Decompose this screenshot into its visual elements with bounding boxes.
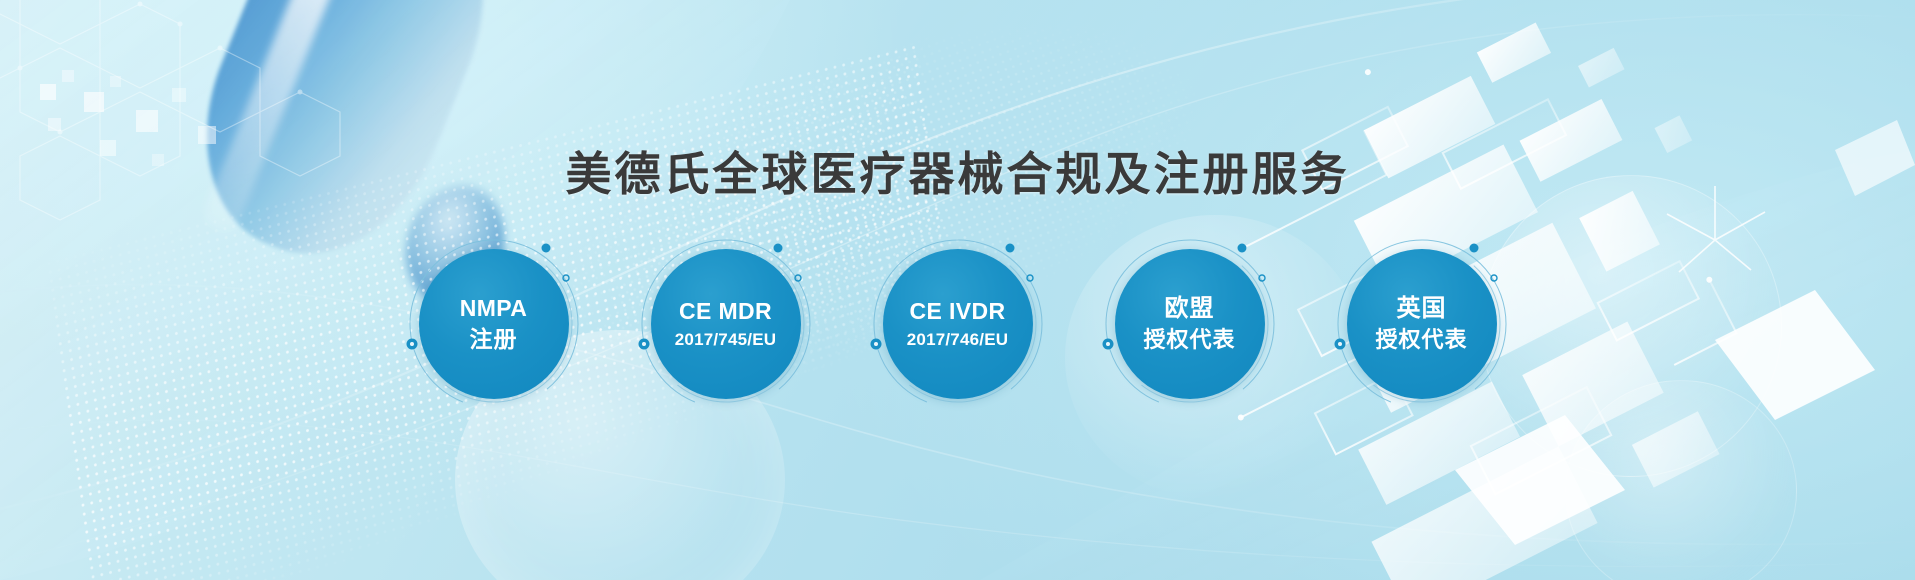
badge-line2: 授权代表 (1143, 327, 1235, 353)
page-title: 美德氏全球医疗器械合规及注册服务 (0, 138, 1915, 204)
badge-ce-mdr[interactable]: CE MDR 2017/745/EU (638, 236, 814, 412)
badge-line2: 2017/745/EU (675, 330, 776, 350)
badge-line1: 欧盟 (1165, 295, 1215, 323)
badge-line2: 授权代表 (1375, 327, 1467, 353)
banner: 美德氏全球医疗器械合规及注册服务 NMPA 注册 (0, 0, 1915, 580)
badge-disc: CE MDR 2017/745/EU (651, 249, 801, 399)
badge-eu-authorized-rep[interactable]: 欧盟 授权代表 (1102, 236, 1278, 412)
badge-line1: CE MDR (679, 298, 772, 325)
badge-disc: 欧盟 授权代表 (1115, 249, 1265, 399)
badge-line2: 注册 (470, 326, 518, 353)
badge-disc: 英国 授权代表 (1347, 249, 1497, 399)
badge-line2: 2017/746/EU (907, 330, 1008, 350)
badge-row: NMPA 注册 CE MDR 2017/745/EU (0, 236, 1915, 412)
badge-ce-ivdr[interactable]: CE IVDR 2017/746/EU (870, 236, 1046, 412)
badge-line1: CE IVDR (909, 298, 1005, 325)
badge-disc: NMPA 注册 (419, 249, 569, 399)
badge-line1: 英国 (1397, 295, 1447, 323)
badge-line1: NMPA (460, 295, 528, 322)
badge-nmpa[interactable]: NMPA 注册 (406, 236, 582, 412)
badge-uk-authorized-rep[interactable]: 英国 授权代表 (1334, 236, 1510, 412)
badge-disc: CE IVDR 2017/746/EU (883, 249, 1033, 399)
